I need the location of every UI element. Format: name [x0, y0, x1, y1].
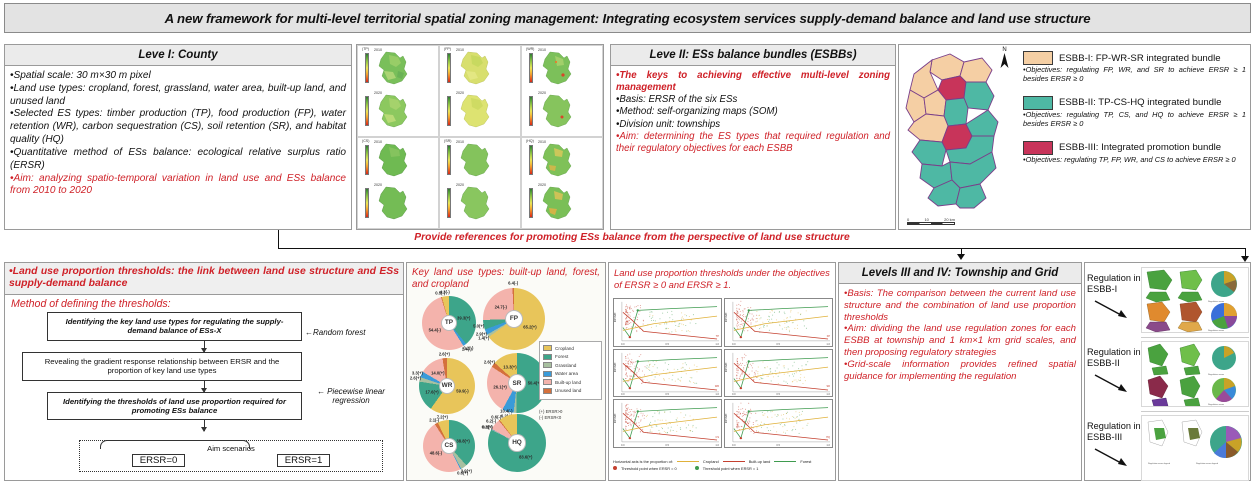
map-es-tag: (TP) [362, 48, 369, 52]
map-tp-2020: 2020 [360, 91, 436, 134]
plot-y-label: ERSR [724, 413, 728, 422]
regulation-thumb-esbb-2: Regulation zones Regulation zones [1141, 341, 1249, 407]
legend-label: Cropland [555, 346, 574, 351]
panel-pie-charts: Key land use types: built-up land, fores… [406, 262, 606, 481]
plot-x-tick: 1.0 [826, 444, 830, 447]
plot-x-tick: 1.0 [715, 393, 719, 396]
pie-slice-label: 3.3(+) [412, 370, 423, 375]
map-es-tag: (CS) [362, 140, 369, 144]
legend-swatch-forest [543, 354, 552, 360]
map-cell-sr: (SR) 2010 2020 [439, 137, 521, 229]
panel-thresholds: •Land use proportion thresholds: the lin… [4, 262, 404, 481]
plot-equation: FP [827, 336, 830, 339]
pie-slice-label: 2.6(+) [439, 351, 450, 356]
legend-label: Unused land [555, 388, 581, 393]
map-sr-2020: 2020 [442, 183, 518, 226]
arrow-icon [1093, 447, 1129, 467]
map-es-tag: (HQ) [526, 140, 534, 144]
plot-x-tick: 0.5 [776, 343, 780, 346]
arrow-icon [1093, 373, 1129, 393]
level-1-aim: •Aim: analyzing spatio-temporal variatio… [10, 173, 346, 199]
plot-y-label: ERSR [613, 413, 617, 422]
pie-slice-label: 17.6(+) [425, 390, 438, 395]
level-2-aim: •Aim: determining the ES types that requ… [616, 131, 890, 155]
scenario-ersr-0: ERSR=0 [132, 454, 186, 467]
level-1-bullet-0: •Spatial scale: 30 m×30 m pixel [10, 70, 346, 83]
level-1-bullet-1: •Land use types: cropland, forest, grass… [10, 83, 346, 109]
esbb-legend-item: ESBB-III: Integrated promotion bundle •O… [1023, 141, 1246, 165]
level-1-bullet-3: •Quantitative method of ESs balance: eco… [10, 147, 346, 173]
color-ramp [529, 145, 533, 175]
level-34-bullet-0: •Basis: The comparison between the curre… [844, 288, 1076, 323]
color-ramp [447, 53, 451, 83]
county-shape [454, 51, 492, 85]
map-wr-2010: (WR) 2010 [524, 48, 600, 91]
legend-swatch-builtup [543, 379, 552, 385]
svg-text:Regulation zones: Regulation zones [1208, 300, 1224, 303]
north-arrow-icon [1000, 53, 1009, 69]
esbb-3-objective: •Objectives: regulating TP, FP, WR, and … [1023, 156, 1246, 165]
pie-legend-item: Unused land [543, 388, 598, 394]
esbb-2-objective: •Objectives: regulating TP, CS, and HQ t… [1023, 111, 1246, 129]
aim-brace [100, 440, 250, 449]
pie-sign-note: (+) ERSR>0 (-) ERSR<0 [539, 409, 602, 421]
level-2-bullet-0: •Basis: ERSR of the six ESs [616, 94, 890, 106]
svg-text:Regulation zones: Regulation zones [1208, 373, 1224, 376]
regulation-row-esbb-2: Regulation in ESBB-II [1085, 339, 1252, 409]
pie-slice-label: 1.4(+) [478, 336, 489, 341]
level-1-map-grid: (TP) 2010 2020 [356, 44, 604, 230]
plot-x-tick: 0.0 [621, 343, 625, 346]
regulation-thumb-svg: Regulation zones Regulation zones [1142, 342, 1249, 407]
pie-center-label-tp: TP [441, 315, 457, 331]
map-hq-2010: (HQ) 2010 [524, 140, 600, 183]
page-title-text: A new framework for multi-level territor… [165, 11, 1091, 26]
county-shape [454, 94, 492, 128]
county-shape [454, 143, 492, 177]
panel-regulation-maps: Regulation in ESBB-I [1084, 262, 1251, 481]
pie-slice-label: 5.0(+) [473, 323, 484, 328]
regulation-label-esbb-3: Regulation in ESBB-III [1087, 421, 1141, 442]
pie-center-label-sr: SR [508, 374, 526, 392]
level-2-bullet-2: •Division unit: townships [616, 119, 890, 131]
map-wr-2020: 2020 [524, 91, 600, 134]
regulation-row-esbb-3: Regulation in ESBB-III Regulat [1085, 413, 1252, 483]
pie-slice-label: 0.6(+) [457, 470, 468, 475]
regulation-thumb-svg: Regulation zones legend Regulation zones… [1142, 416, 1249, 481]
threshold-plot-tp: ERSR 0.0 0.5 1.0 TP [613, 298, 722, 347]
plot-equation: HQ [826, 437, 830, 440]
pie-slice-label: 2.6(+) [410, 376, 421, 381]
county-shape [454, 186, 492, 220]
connector-horizontal-line [278, 248, 1246, 249]
pie-slice-label: 38.8(+) [456, 438, 469, 443]
connector-caption: Provide references for promoting ESs bal… [282, 232, 982, 243]
pie-slice-label: 2.9(+) [476, 332, 487, 337]
plot-equation: SR [827, 386, 830, 389]
thresholds-method-label: Method of defining the thresholds: [5, 295, 403, 312]
pie-slice-label: 1.4(-) [462, 346, 472, 351]
plot-x-tick: 0.0 [732, 444, 736, 447]
flow-arrow-2 [204, 381, 205, 392]
map-fp-2010: (FP) 2010 [442, 48, 518, 91]
point-marker-ersr1 [695, 466, 699, 470]
series-line-cropland [677, 461, 699, 463]
regulation-thumb-esbb-1: Regulation zones Regulation zones [1141, 267, 1249, 333]
pie-slice-label: 26.1(+) [493, 385, 506, 390]
level-2-keys: •The keys to achieving effective multi-l… [616, 70, 890, 94]
threshold-plot-hq: ERSR 0.0 0.5 1.0 HQ [724, 399, 833, 448]
esbb-1-objective: •Objectives: regulating FP, WR, and SR t… [1023, 66, 1246, 84]
regulation-separator [1141, 411, 1249, 412]
map-cell-tp: (TP) 2010 2020 [357, 45, 439, 137]
map-fp-2020: 2020 [442, 91, 518, 134]
plot-equation: TP [716, 336, 719, 339]
plot-y-label: ERSR [613, 363, 617, 372]
panel-level-1: Leve I: County •Spatial scale: 30 m×30 m… [4, 44, 352, 230]
pie-slice-label: 0.6(-) [491, 414, 501, 419]
legend-label: Water area [555, 371, 578, 376]
series-label-builtup: Built-up land [749, 459, 771, 464]
county-shape [372, 94, 410, 128]
map-cell-fp: (FP) 2010 2020 [439, 45, 521, 137]
plot-x-tick: 0.5 [665, 393, 669, 396]
flow-box-3: Identifying the thresholds of land use p… [47, 392, 302, 421]
esbb-2-swatch [1023, 96, 1053, 110]
pie-slice-label: 54.4(-) [429, 327, 441, 332]
color-ramp [529, 188, 533, 218]
map-es-tag: (FP) [444, 48, 451, 52]
pie-slice-label: 39.3(+) [457, 315, 470, 320]
threshold-plot-cs: ERSR 0.0 0.5 1.0 CS [613, 399, 722, 448]
pie-slice-label: 83.6(+) [519, 455, 532, 460]
level-34-bullet-1: •Aim: dividing the land use regulation z… [844, 323, 1076, 358]
pie-slice-label: 24.7(-) [495, 304, 507, 309]
esbb-3-swatch [1023, 141, 1053, 155]
threshold-plot-fp: ERSR 0.0 0.5 1.0 FP [724, 298, 833, 347]
panel-level-2: Leve II: ESs balance bundles (ESBBs) •Th… [610, 44, 896, 230]
map-scale-bar: 0 10 20 km [907, 217, 955, 225]
pie-slice-label: 59.9(-) [456, 388, 468, 393]
flow-arrow-3 [204, 420, 205, 431]
plot-x-tick: 1.0 [826, 393, 830, 396]
svg-text:Regulation zones: Regulation zones [1208, 403, 1224, 406]
svg-text:Regulation zones legend: Regulation zones legend [1196, 462, 1218, 465]
plot-x-tick: 0.5 [665, 444, 669, 447]
panel-threshold-plots: Land use proportion thresholds under the… [608, 262, 836, 481]
threshold-plot-wr: ERSR 0.0 0.5 1.0 WR [613, 349, 722, 398]
level-1-bullet-2: •Selected ES types: timber production (T… [10, 108, 346, 146]
flow-box-2: Revealing the gradient response relation… [22, 352, 302, 381]
map-cell-hq: (HQ) 2010 2020 [521, 137, 603, 229]
plot-x-tick: 0.5 [776, 393, 780, 396]
svg-text:Regulation zones: Regulation zones [1208, 329, 1224, 332]
level-1-bullets: •Spatial scale: 30 m×30 m pixel •Land us… [10, 70, 346, 198]
legend-swatch-grassland [543, 362, 552, 368]
plot-x-tick: 0.0 [621, 444, 625, 447]
scale-tick-0: 0 [907, 217, 909, 222]
pie-slice-label: 6.4(-) [508, 281, 518, 286]
plot-x-tick: 0.5 [665, 343, 669, 346]
pie-slice-label: 14.0(+) [431, 370, 444, 375]
pie-slice-label: 4.3(-) [440, 289, 450, 294]
scenario-ersr-1: ERSR=1 [277, 454, 331, 467]
map-cell-wr: (WR) 2010 2020 [521, 45, 603, 137]
esbb-map-legend: N 0 10 20 km [898, 44, 1251, 230]
threshold-plot-grid: ERSR 0.0 0.5 1.0 TP ERSR 0.0 0.5 1.0 FP [613, 298, 833, 448]
point-label-ersr1: Threshold point when ERSR = 1 [703, 466, 759, 471]
level-2-bullets: •The keys to achieving effective multi-l… [616, 70, 890, 155]
plot-x-tick: 0.5 [776, 444, 780, 447]
flow-arrow-1 [204, 341, 205, 352]
pie-slice-label: 48.6(-) [430, 451, 442, 456]
plot-x-tick: 1.0 [826, 343, 830, 346]
legend-label: Built-up land [555, 380, 581, 385]
map-tp-2010: (TP) 2010 [360, 48, 436, 91]
color-ramp [529, 96, 533, 126]
pie-slice-label: 65.2(+) [523, 325, 536, 330]
plot-equation: CS [716, 437, 719, 440]
map-es-tag: (WR) [526, 48, 534, 52]
color-ramp [365, 53, 369, 83]
legend-swatch-cropland [543, 345, 552, 351]
legend-label: Forest [555, 354, 568, 359]
connector-arrow-down-mid [957, 254, 965, 260]
regulation-thumb-svg: Regulation zones Regulation zones [1142, 268, 1249, 333]
pie-legend-item: Water area [543, 371, 598, 377]
color-ramp [447, 145, 451, 175]
graphical-abstract: A new framework for multi-level territor… [0, 0, 1255, 485]
color-ramp [365, 145, 369, 175]
regulation-separator [1141, 337, 1249, 338]
level-2-bullet-1: •Method: self-organizing maps (SOM) [616, 106, 890, 118]
esbb-legend-item: ESBB-II: TP-CS-HQ integrated bundle •Obj… [1023, 96, 1246, 129]
map-cell-cs: (CS) 2010 2020 [357, 137, 439, 229]
plots-legend-series-row: Horizontal axis is the proportion of: Cr… [613, 459, 833, 464]
plot-x-tick: 1.0 [715, 444, 719, 447]
plots-legend-points-row: Threshold point when ERSR = 0 Threshold … [613, 466, 833, 471]
regulation-label-esbb-1: Regulation in ESBB-I [1087, 273, 1141, 294]
county-shape [536, 186, 574, 220]
scale-tick-1: 10 [924, 217, 928, 222]
color-ramp [365, 188, 369, 218]
plot-y-label: ERSR [724, 363, 728, 372]
thresholds-header: •Land use proportion thresholds: the lin… [5, 263, 403, 295]
flow-note-random-forest: ←Random forest [305, 328, 365, 337]
esbb-1-name: ESBB-I: FP-WR-SR integrated bundle [1059, 53, 1221, 64]
level-34-header: Levels III and IV: Township and Grid [839, 263, 1081, 284]
plots-title: Land use proportion thresholds under the… [609, 263, 835, 293]
color-ramp [447, 96, 451, 126]
pies-title: Key land use types: built-up land, fores… [407, 263, 605, 292]
pie-slice-label: 6.2(-) [486, 419, 496, 424]
county-shape [372, 143, 410, 177]
map-cs-2020: 2020 [360, 183, 436, 226]
plots-legend: Horizontal axis is the proportion of: Cr… [613, 459, 833, 472]
pie-slice-label: 2.6(+) [484, 359, 495, 364]
series-label-cropland: Cropland [703, 459, 719, 464]
county-shape [536, 143, 574, 177]
pie-legend-item: Built-up land [543, 379, 598, 385]
pie-note-neg: (-) ERSR<0 [539, 415, 602, 421]
plot-x-tick: 0.0 [732, 343, 736, 346]
map-es-tag: (SR) [444, 140, 451, 144]
plot-x-tick: 0.0 [621, 393, 625, 396]
map-sr-2010: (SR) 2010 [442, 140, 518, 183]
aim-scenarios-box: Aim scenarios ERSR=0 ERSR=1 [79, 440, 383, 472]
regulation-label-esbb-2: Regulation in ESBB-II [1087, 347, 1141, 368]
county-shape [536, 94, 574, 128]
connector-vertical-left [278, 230, 279, 249]
pie-slice-label: 0.2(-) [482, 424, 492, 429]
esbb-township-map: N 0 10 20 km [899, 45, 1017, 229]
pie-legend-item: Forest [543, 354, 598, 360]
point-label-ersr0: Threshold point when ERSR = 0 [621, 466, 677, 471]
legend-label: Grassland [555, 363, 576, 368]
county-shape [372, 51, 410, 85]
pie-center-label-hq: HQ [508, 434, 525, 451]
pie-slice-label: 13.3(+) [503, 365, 516, 370]
level-2-header: Leve II: ESs balance bundles (ESBBs) [611, 45, 895, 66]
svg-text:Regulation zones legend: Regulation zones legend [1148, 462, 1170, 465]
level-1-header: Leve I: County [5, 45, 351, 66]
legend-swatch-water [543, 371, 552, 377]
pie-legend-item: Cropland [543, 345, 598, 351]
series-line-forest [774, 461, 796, 463]
threshold-plot-sr: ERSR 0.0 0.5 1.0 SR [724, 349, 833, 398]
pie-center-label-cs: CS [441, 438, 457, 454]
color-ramp [529, 53, 533, 83]
esbb-1-swatch [1023, 51, 1053, 65]
point-marker-ersr0 [613, 466, 617, 470]
plot-equation: WR [715, 386, 719, 389]
county-shape [536, 51, 574, 85]
level-34-bullets: •Basis: The comparison between the curre… [844, 288, 1076, 383]
pie-legend: Cropland Forest Grassland Water area Bui… [539, 341, 602, 400]
north-arrow: N [1000, 47, 1009, 69]
pie-slice-label: 10.4(-) [500, 409, 512, 414]
page-title: A new framework for multi-level territor… [4, 3, 1251, 33]
esbb-legend-item: ESBB-I: FP-WR-SR integrated bundle •Obje… [1023, 51, 1246, 84]
flow-box-1: Identifying the key land use types for r… [47, 312, 302, 341]
plot-y-label: ERSR [613, 312, 617, 321]
series-label-forest: Forest [800, 459, 811, 464]
esbb-2-name: ESBB-II: TP-CS-HQ integrated bundle [1059, 97, 1221, 108]
esbb-legend: ESBB-I: FP-WR-SR integrated bundle •Obje… [1017, 45, 1250, 229]
color-ramp [365, 96, 369, 126]
pie-legend-item: Grassland [543, 362, 598, 368]
plot-x-tick: 1.0 [715, 343, 719, 346]
regulation-thumb-esbb-3: Regulation zones legend Regulation zones… [1141, 415, 1249, 481]
level-34-bullet-2: •Grid-scale information provides refined… [844, 359, 1076, 383]
map-hq-2020: 2020 [524, 183, 600, 226]
thresholds-flowchart: Identifying the key land use types for r… [5, 312, 403, 476]
legend-swatch-unused [543, 388, 552, 394]
plots-legend-prefix: Horizontal axis is the proportion of: [613, 459, 673, 464]
series-line-builtup [723, 461, 745, 463]
esbb-map-svg [902, 48, 1014, 218]
pie-slice-label: 7.2(+) [437, 414, 448, 419]
color-ramp [447, 188, 451, 218]
esbb-3-name: ESBB-III: Integrated promotion bundle [1059, 142, 1221, 153]
flow-note-piecewise: ←Piecewise linear regression [312, 387, 390, 405]
arrow-icon [1093, 299, 1129, 319]
plot-y-label: ERSR [724, 312, 728, 321]
scale-tick-2: 20 km [944, 217, 955, 222]
panel-levels-3-4: Levels III and IV: Township and Grid •Ba… [838, 262, 1082, 481]
regulation-row-esbb-1: Regulation in ESBB-I [1085, 265, 1252, 335]
county-shape [372, 186, 410, 220]
map-cs-2010: (CS) 2010 [360, 140, 436, 183]
plot-x-tick: 0.0 [732, 393, 736, 396]
